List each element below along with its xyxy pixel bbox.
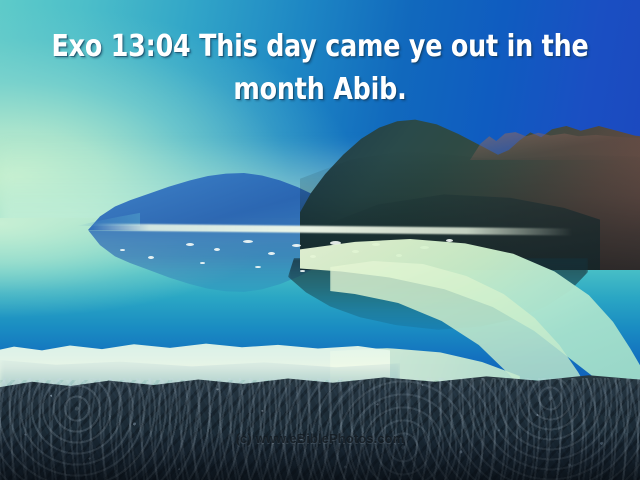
ice-floe xyxy=(268,252,275,255)
ice-floe xyxy=(255,266,261,268)
bible-verse-photo: Exo 13:04 This day came ye out in the mo… xyxy=(0,0,640,480)
ice-floe xyxy=(186,243,194,246)
ice-floe xyxy=(120,249,125,251)
ice-floe xyxy=(214,248,220,251)
verse-title: Exo 13:04 This day came ye out in the mo… xyxy=(19,26,621,111)
watermark-credit: (c) www.eBiblePhotos.com xyxy=(0,431,640,446)
ice-floe xyxy=(292,244,301,247)
ice-floe xyxy=(243,240,253,243)
ice-floe xyxy=(200,262,205,264)
ice-floe xyxy=(148,256,154,259)
ice-floe xyxy=(300,270,305,272)
ice-floe xyxy=(446,239,453,242)
